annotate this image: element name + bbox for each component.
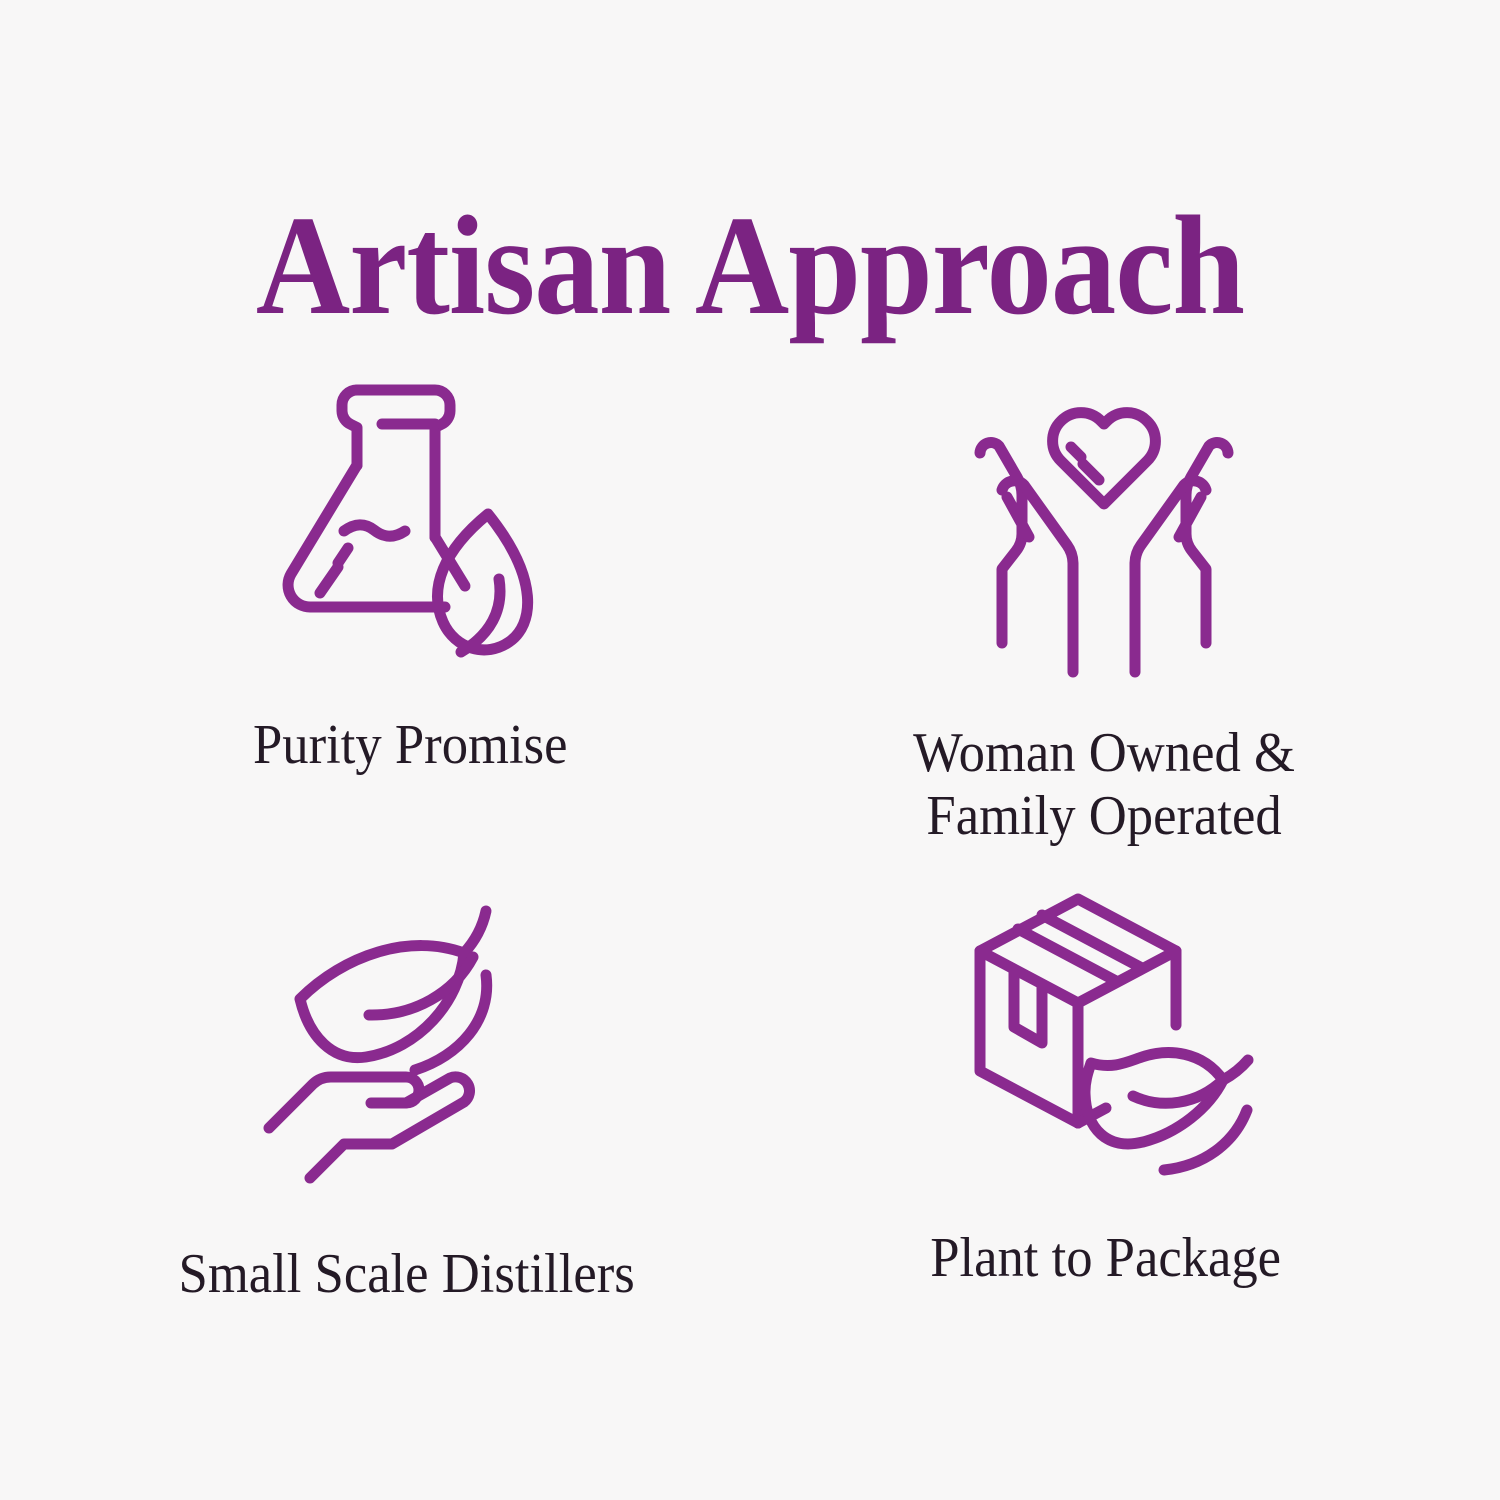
artisan-approach-panel: Artisan Approach [0,0,1500,1500]
feature-label: Purity Promise [253,714,567,777]
feature-label: Woman Owned & Family Operated [913,722,1295,847]
feature-plant-to-package[interactable]: Plant to Package [750,865,1440,1370]
feature-woman-owned-family-operated[interactable]: Woman Owned & Family Operated [750,360,1440,865]
feature-grid: Purity Promise [60,360,1440,1370]
feature-label: Small Scale Distillers [179,1243,635,1306]
box-leaf-icon [956,883,1256,1183]
feature-label: Plant to Package [931,1227,1282,1290]
page-title: Artisan Approach [60,191,1440,340]
feature-purity-promise[interactable]: Purity Promise [60,360,750,865]
hand-holding-leaf-icon [257,899,557,1199]
feature-small-scale-distillers[interactable]: Small Scale Distillers [60,865,750,1370]
flask-leaf-icon [260,368,560,668]
hands-holding-heart-icon [954,382,1254,682]
